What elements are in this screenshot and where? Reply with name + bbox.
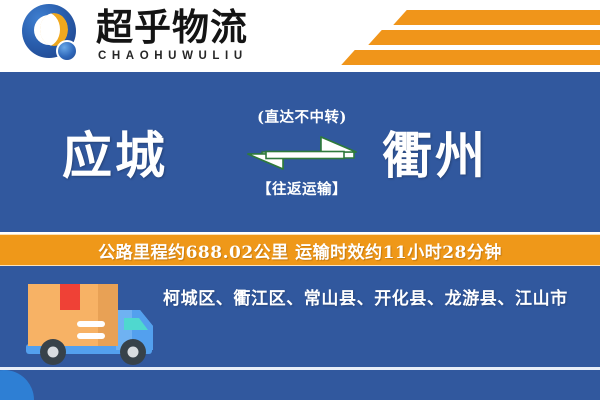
orange-speed-stripes-icon: [340, 0, 600, 72]
bottom-divider: [0, 367, 600, 370]
distance-duration-bar: 公路里程约688.02公里 运输时效约11小时28分钟: [0, 234, 600, 266]
logo-accent-dot: [56, 40, 78, 62]
logistics-route-banner: 超乎物流 CHAOHUWULIU 应城 (直达不中转) 【往返运输】 衢州: [0, 0, 600, 400]
coverage-district-list: 柯城区、衢江区、常山县、开化县、龙游县、江山市: [163, 284, 568, 309]
distance-duration-text: 公路里程约688.02公里 运输时效约11小时28分钟: [98, 238, 502, 263]
route-note-roundtrip: 【往返运输】: [257, 178, 347, 199]
double-headed-arrow-icon: [226, 133, 378, 173]
stripe-middle: [368, 30, 600, 45]
coverage-section: 柯城区、衢江区、常山县、开化县、龙游县、江山市: [0, 266, 600, 400]
delivery-truck-icon: [20, 274, 170, 372]
route-middle-block: (直达不中转) 【往返运输】: [222, 90, 382, 214]
route-section: 应城 (直达不中转) 【往返运输】 衢州: [0, 72, 600, 232]
destination-city-name: 衢州: [382, 116, 488, 188]
brand-logo-block: 超乎物流 CHAOHUWULIU: [22, 4, 248, 66]
brand-text-block: 超乎物流 CHAOHUWULIU: [96, 8, 248, 61]
stripe-top: [393, 10, 600, 25]
corner-accent-circle: [0, 370, 34, 400]
origin-city-name: 应城: [62, 116, 168, 188]
stripe-bottom: [341, 50, 600, 65]
route-note-direct: (直达不中转): [257, 106, 347, 127]
brand-name-cn: 超乎物流: [96, 8, 248, 46]
brand-name-en: CHAOHUWULIU: [96, 50, 248, 62]
circle-crescent-logo-icon: [22, 4, 84, 66]
banner-header: 超乎物流 CHAOHUWULIU: [0, 0, 600, 72]
